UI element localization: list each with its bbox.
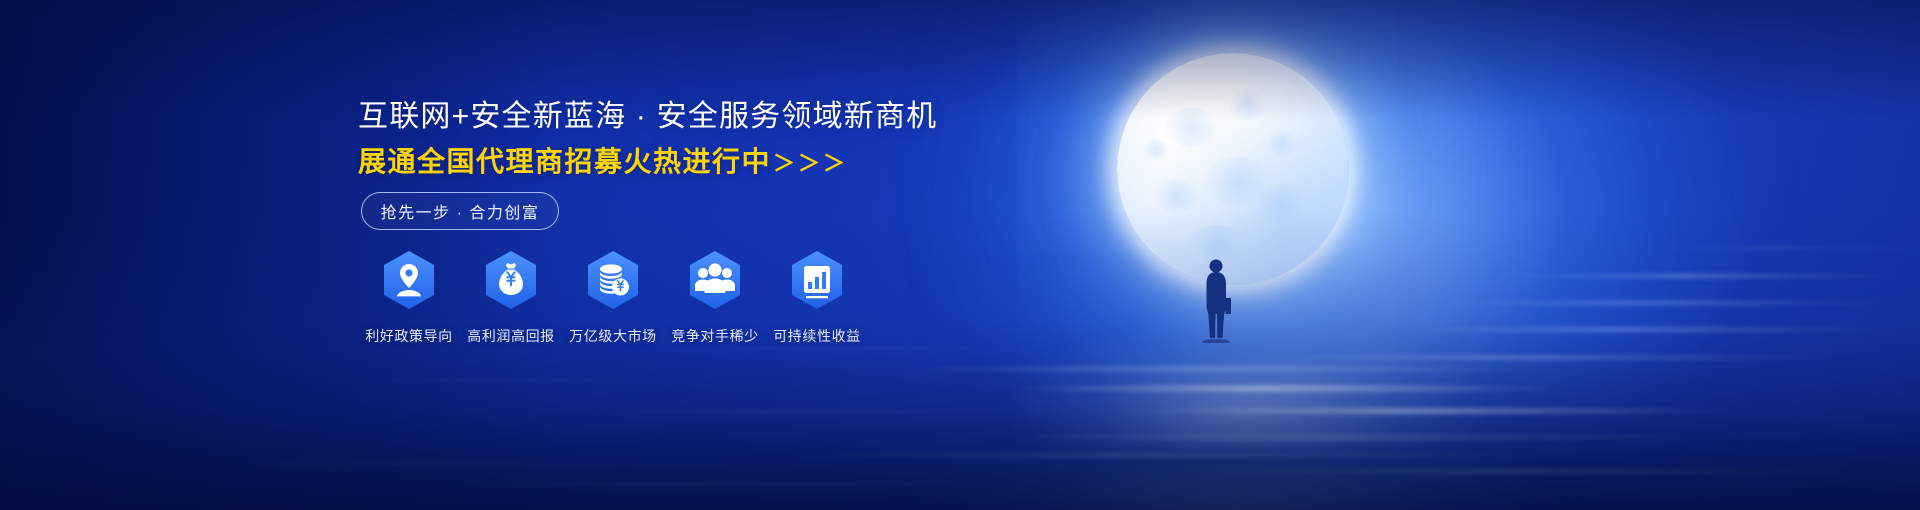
hexagon-badge [382, 250, 436, 310]
cta-pill-button[interactable]: 抢先一步 · 合力创富 [361, 192, 559, 230]
subheadline: 展通全国代理商招募火热进行中 ＞＞＞ [358, 144, 848, 180]
feature-label: 竞争对手稀少 [671, 326, 759, 346]
feature-label: 高利润高回报 [467, 326, 555, 346]
subheadline-text: 展通全国代理商招募火热进行中 [358, 144, 771, 180]
chevron-right-icon: ＞＞＞ [773, 146, 848, 178]
promo-banner: 互联网+安全新蓝海 · 安全服务领域新商机 展通全国代理商招募火热进行中 ＞＞＞… [0, 0, 1920, 510]
feature-label: 万亿级大市场 [569, 326, 657, 346]
feature-list: 利好政策导向 高利润高回报 [358, 250, 868, 346]
feature-item[interactable]: 利好政策导向 [358, 250, 460, 346]
hexagon-badge [790, 250, 844, 310]
feature-item[interactable]: 高利润高回报 [460, 250, 562, 346]
feature-label: 利好政策导向 [365, 326, 453, 346]
hexagon-badge [484, 250, 538, 310]
feature-item[interactable]: 万亿级大市场 [562, 250, 664, 346]
feature-label: 可持续性收益 [773, 326, 861, 346]
hexagon-badge [586, 250, 640, 310]
page-title: 互联网+安全新蓝海 · 安全服务领域新商机 [358, 98, 937, 136]
hexagon-badge [688, 250, 742, 310]
feature-item[interactable]: 竞争对手稀少 [664, 250, 766, 346]
feature-item[interactable]: 可持续性收益 [766, 250, 868, 346]
cta-pill-label: 抢先一步 · 合力创富 [381, 199, 540, 223]
